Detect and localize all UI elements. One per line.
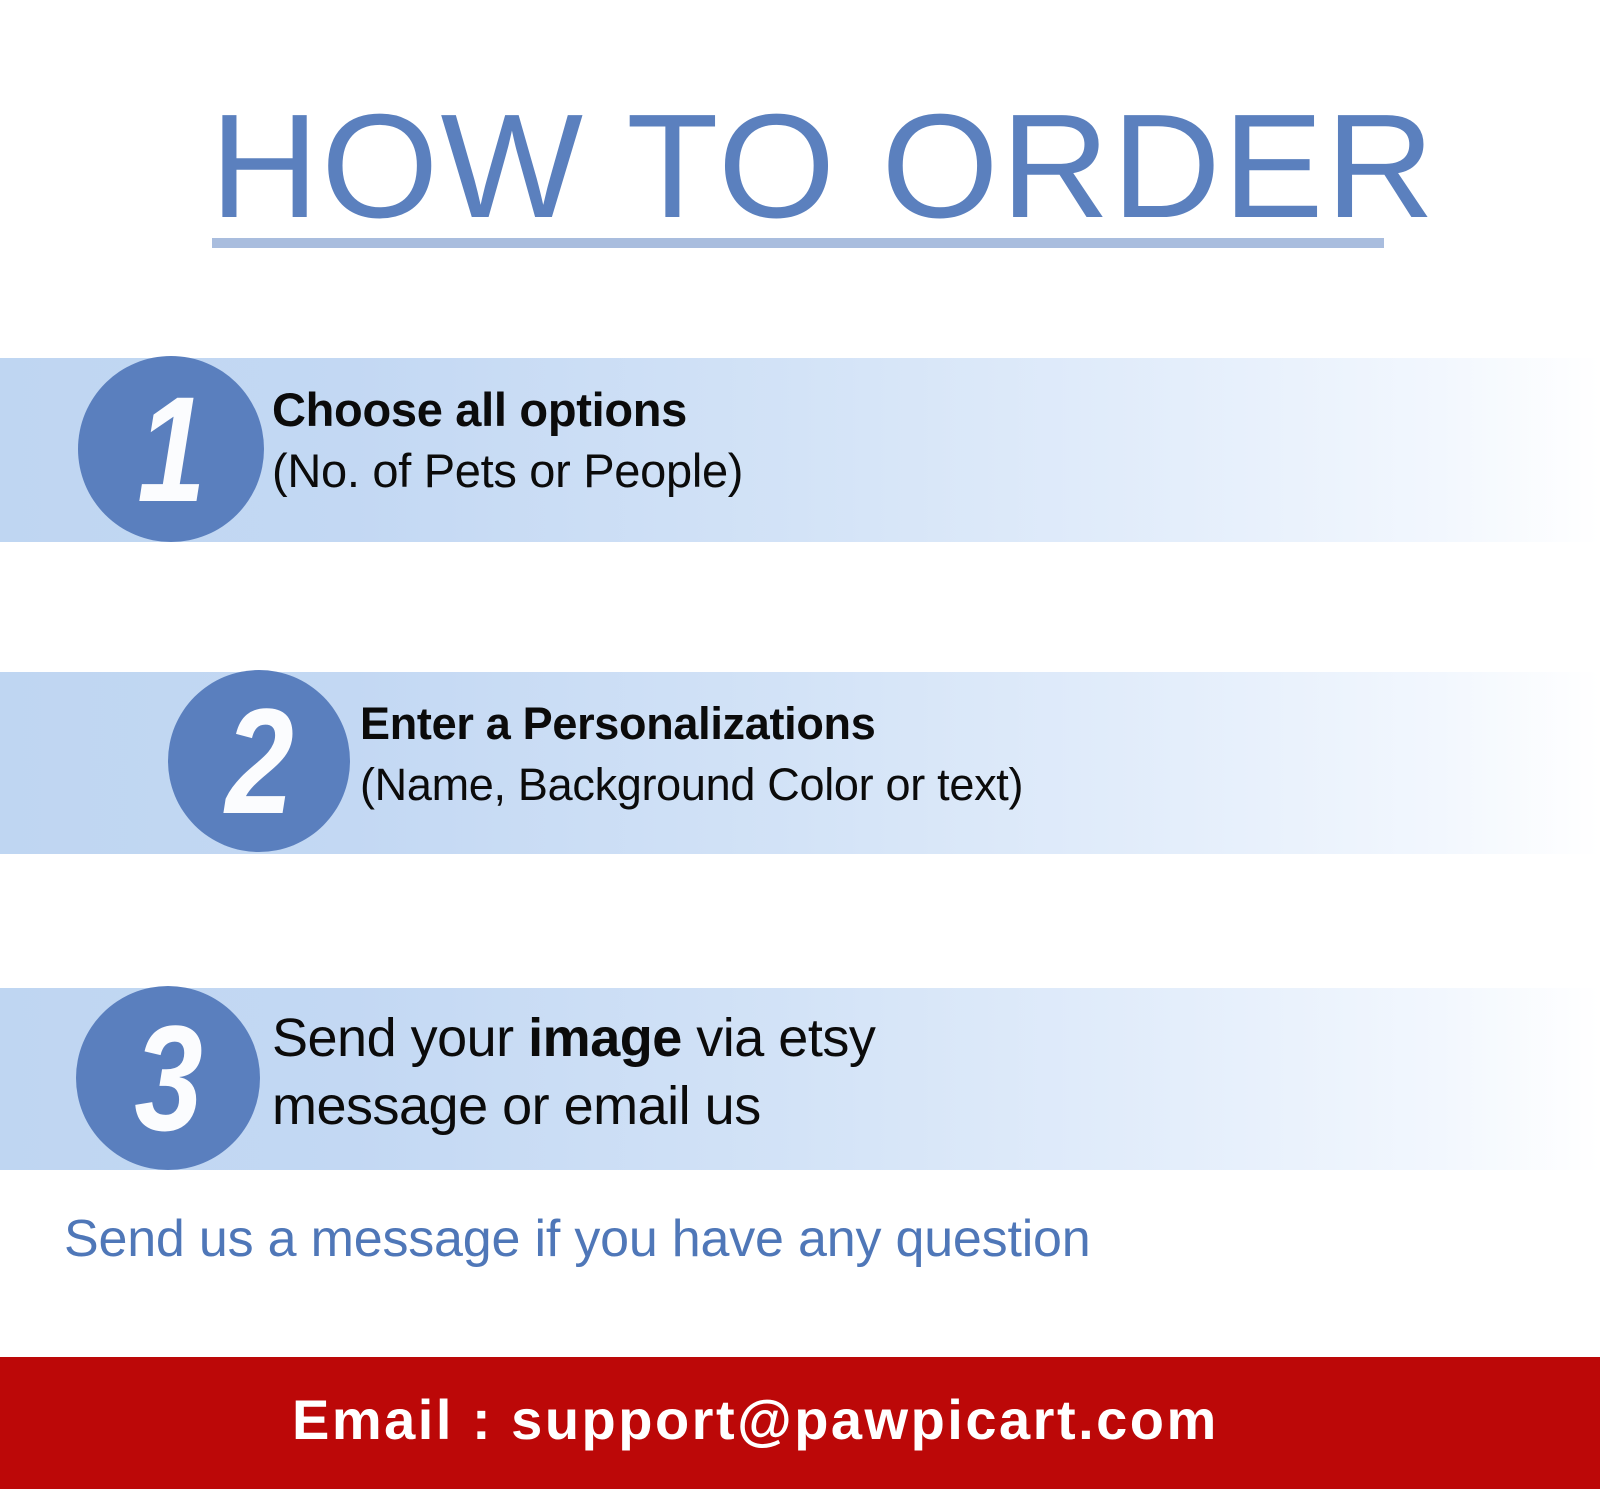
page-title-text: HOW TO ORDER [210, 92, 1414, 242]
step-text-2: Enter a Personalizations (Name, Backgrou… [360, 694, 1023, 816]
step-3-headline-post: via etsy [682, 1008, 876, 1068]
step-2-headline: Enter a Personalizations [360, 694, 1023, 754]
step-1-subline: (No. of Pets or People) [272, 440, 743, 502]
page-title: HOW TO ORDER [210, 92, 1390, 242]
email-address-text: Email : support@pawpicart.com [292, 1388, 1219, 1452]
step-number-1: 1 [138, 374, 205, 524]
title-underline-rule [212, 238, 1384, 248]
step-number-2: 2 [226, 686, 293, 836]
step-number-badge-3: 3 [76, 986, 260, 1170]
step-2-subline: (Name, Background Color or text) [360, 754, 1023, 816]
step-row-2: 2 Enter a Personalizations (Name, Backgr… [0, 672, 1600, 854]
step-text-1: Choose all options (No. of Pets or Peopl… [272, 380, 743, 502]
support-note: Send us a message if you have any questi… [64, 1208, 1091, 1270]
step-3-headline: Send your image via etsy [272, 1004, 875, 1072]
step-3-headline-pre: Send your [272, 1008, 528, 1068]
step-3-headline-emphasis: image [528, 1008, 682, 1068]
step-number-badge-2: 2 [168, 670, 350, 852]
step-text-3: Send your image via etsy message or emai… [272, 1004, 875, 1140]
how-to-order-infographic: HOW TO ORDER 1 Choose all options (No. o… [0, 0, 1600, 1489]
step-3-subline: message or email us [272, 1072, 875, 1140]
step-number-badge-1: 1 [78, 356, 264, 542]
step-1-headline: Choose all options [272, 380, 743, 440]
step-number-3: 3 [135, 1003, 202, 1153]
step-row-3: 3 Send your image via etsy message or em… [0, 988, 1600, 1170]
step-row-1: 1 Choose all options (No. of Pets or Peo… [0, 358, 1600, 542]
